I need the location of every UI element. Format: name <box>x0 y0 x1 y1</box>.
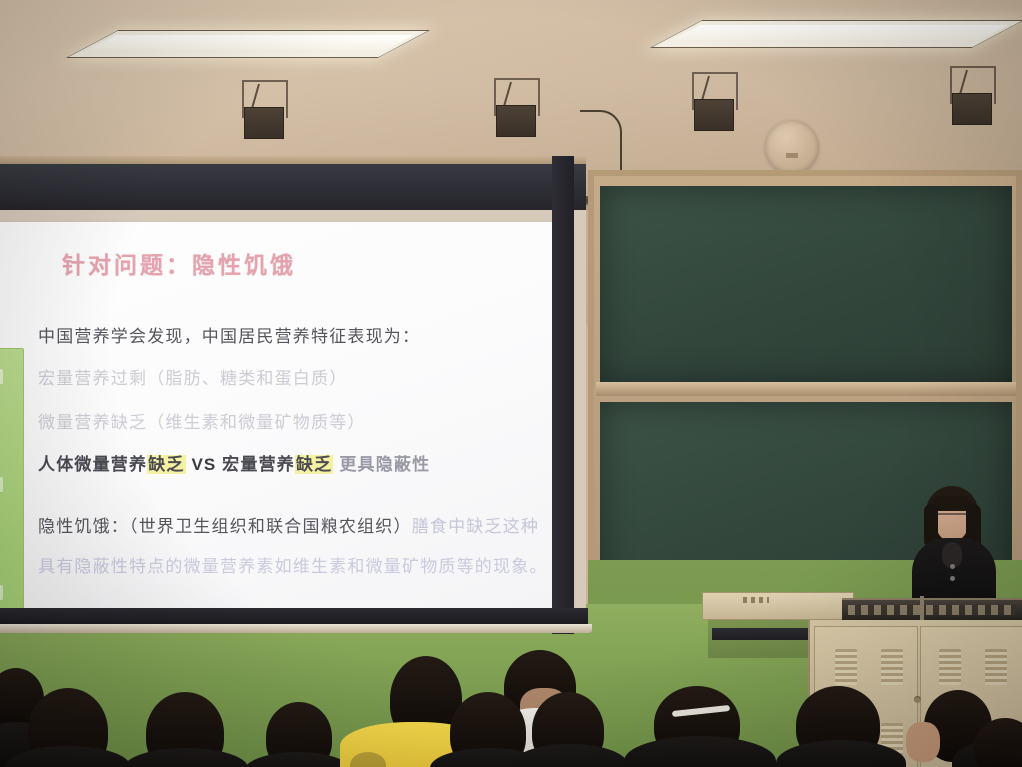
comparison-prefix: 人体微量营养 <box>38 455 147 474</box>
comparison-suffix: 更具隐蔽性 <box>339 455 430 474</box>
screen-casing <box>0 164 586 213</box>
slide-content: 针对问题：隐性饥饿 中国营养学会发现，中国居民营养特征表现为： 宏量营养过剩（脂… <box>0 222 572 608</box>
comparison-middle: 宏量营养 <box>222 455 295 474</box>
projection-screen: 针对问题：隐性饥饿 中国营养学会发现，中国居民营养特征表现为： 宏量营养过剩（脂… <box>0 164 586 656</box>
fluorescent-lamp-left <box>66 30 431 58</box>
console-divider <box>920 596 924 622</box>
definition-tail-1: 膳食中缺乏这种 <box>412 517 539 536</box>
audience-shoulder <box>776 740 906 767</box>
audience-shoulder <box>124 748 248 767</box>
comparison-vs: VS <box>192 455 217 474</box>
leftover-green-card <box>0 348 24 608</box>
slide-line-micro-deficiency: 微量营养缺乏（维生素和微量矿物质等） <box>38 408 366 433</box>
wall-speaker-2 <box>490 78 540 136</box>
slide-line-comparison: 人体微量营养缺乏 VS 宏量营养缺乏 更具隐蔽性 <box>38 450 430 475</box>
audience-shoulder <box>624 736 776 767</box>
definition-label: 隐性饥饿： <box>38 517 129 536</box>
screen-roll-bar[interactable] <box>0 624 592 633</box>
slide-definition-line-2: 具有隐蔽性特点的微量营养素如维生素和微量矿物质等的现象。 <box>38 552 548 577</box>
wall-speaker-1 <box>238 80 288 138</box>
comparison-highlight-1: 缺乏 <box>147 455 185 474</box>
wall-speaker-3 <box>688 72 738 130</box>
screen-bottom-bar <box>0 608 588 624</box>
lectern-top[interactable] <box>702 592 854 620</box>
definition-orgs: （世界卫生组织和联合国粮农组织） <box>129 517 412 536</box>
lecture-hall-scene: 针对问题：隐性饥饿 中国营养学会发现，中国居民营养特征表现为： 宏量营养过剩（脂… <box>0 0 1022 767</box>
slide-line-macro-excess: 宏量营养过剩（脂肪、糖类和蛋白质） <box>38 364 347 389</box>
comparison-highlight-2: 缺乏 <box>295 455 333 474</box>
chalkboard-ledge-middle <box>596 382 1016 396</box>
lectern-console[interactable] <box>842 598 1022 622</box>
round-wall-speaker <box>765 120 819 174</box>
audience-shoulder <box>244 752 352 767</box>
audience-face <box>906 722 940 762</box>
lecturer <box>906 486 1002 606</box>
seated-audience <box>0 640 1022 767</box>
chalkboard-panel-top <box>600 186 1012 384</box>
slide-line-intro: 中国营养学会发现，中国居民营养特征表现为： <box>38 322 420 347</box>
wall-speaker-4 <box>946 66 996 124</box>
slide-title: 针对问题：隐性饥饿 <box>62 246 296 280</box>
glasses <box>937 513 968 522</box>
fluorescent-lamp-right <box>650 20 1022 48</box>
slide-definition-line-1: 隐性饥饿：（世界卫生组织和联合国粮农组织）膳食中缺乏这种 <box>38 512 539 537</box>
